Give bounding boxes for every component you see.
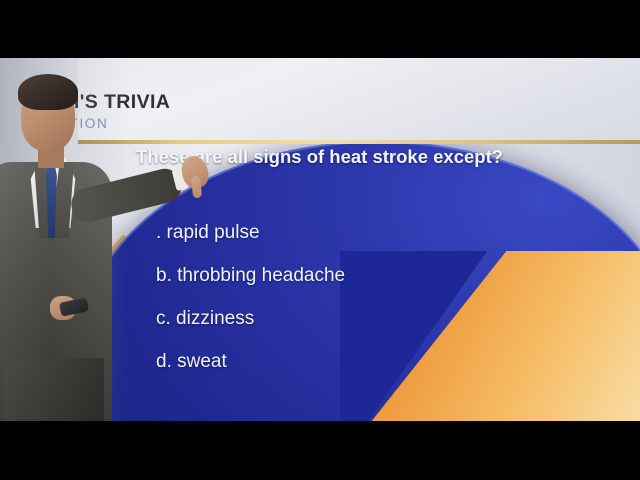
anchor-trousers <box>4 358 104 421</box>
answer-option-a: . rapid pulse <box>156 223 576 242</box>
anchor-hair <box>18 74 78 110</box>
letterbox-bottom <box>0 421 640 480</box>
broadcast-frame: These are all signs of heat stroke excep… <box>0 0 640 480</box>
answer-option-c: c. dizziness <box>156 309 576 328</box>
news-anchor <box>0 58 128 421</box>
header-gold-divider <box>78 140 640 144</box>
answer-option-b: b. throbbing headache <box>156 266 576 285</box>
answer-list: . rapid pulse b. throbbing headache c. d… <box>156 223 576 395</box>
answer-option-d: d. sweat <box>156 352 576 371</box>
letterbox-top <box>0 0 640 58</box>
video-area: These are all signs of heat stroke excep… <box>0 58 640 421</box>
